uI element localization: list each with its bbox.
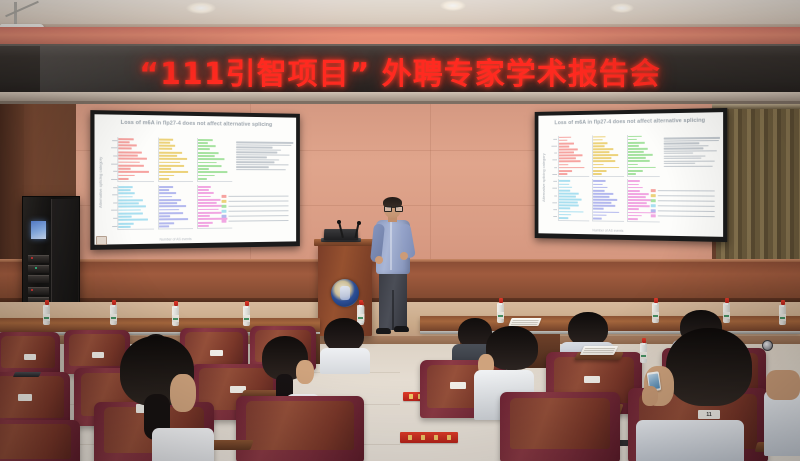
notepad	[580, 346, 618, 355]
wristwatch	[762, 340, 773, 351]
slide-x-axis-label: Number of AS events	[558, 228, 660, 234]
tablet-device[interactable]	[13, 372, 41, 377]
slide-annotation-list	[663, 137, 721, 167]
notepad	[508, 318, 541, 326]
legend-item	[650, 194, 715, 198]
presenter-hand	[400, 252, 408, 260]
chart-panel-wt-rep3	[627, 134, 660, 177]
slide-annotation-list	[236, 142, 294, 171]
seat-number-plate	[584, 376, 600, 383]
legend-item	[650, 214, 715, 218]
projector-mount-arm	[14, 2, 17, 26]
auditorium-seat[interactable]	[500, 392, 620, 461]
presentation-slide: Loss of m6A in flp27-4 does not affect a…	[538, 112, 723, 237]
presenter-leg-split	[392, 290, 394, 330]
ceiling	[0, 0, 800, 26]
microphone-head	[337, 220, 341, 224]
legend-swatch	[650, 204, 655, 207]
auditorium-seat[interactable]	[236, 396, 364, 461]
presentation-slide: Loss of m6A in flp27-4 does not affect a…	[95, 114, 297, 244]
chart-panel-wt-rep2	[158, 137, 194, 182]
legend-swatch	[222, 219, 227, 222]
rack-monitor-screen	[31, 221, 46, 239]
chart-panel-wt-rep1	[118, 137, 155, 182]
legend-item	[650, 199, 715, 203]
legend-swatch	[650, 209, 655, 212]
slide-legend	[650, 189, 715, 218]
audience-person-front-left	[104, 336, 214, 461]
legend-swatch	[222, 195, 227, 198]
presenter-shoe	[394, 326, 409, 332]
legend-item	[650, 204, 715, 208]
slide-y-tick-labels	[552, 135, 558, 220]
legend-swatch	[650, 189, 655, 192]
chart-panel-wt-rep3	[197, 138, 232, 182]
slide-y-axis-label: Alternative splicing category	[96, 143, 105, 221]
led-banner-text: “111引智项目” 外聘专家学术报告会	[0, 46, 800, 96]
legend-item	[222, 194, 288, 198]
floor-decal-sign	[400, 432, 458, 443]
water-bottle	[110, 300, 117, 325]
audience-person-right-edge	[764, 348, 800, 458]
projection-screen-right: Loss of m6A in flp27-4 does not affect a…	[535, 108, 728, 242]
water-bottle	[43, 300, 50, 325]
glasses-icon	[384, 206, 401, 210]
slide-title: Loss of m6A in flp27-4 does not affect a…	[109, 121, 282, 129]
water-bottle	[243, 301, 250, 326]
seat-number-plate	[24, 354, 36, 360]
seat-number-plate	[450, 382, 466, 389]
chart-panel-mutant-rep1	[118, 185, 155, 230]
slide-y-axis-label: Alternative splicing category	[539, 142, 547, 213]
slide-title: Loss of m6A in flp27-4 does not affect a…	[551, 119, 710, 128]
presenter-shoe	[376, 328, 391, 334]
chart-panel-wt-rep2	[592, 135, 624, 177]
chart-panel-wt-rep1	[558, 135, 589, 177]
screen-surface: Loss of m6A in flp27-4 does not affect a…	[95, 114, 297, 244]
microphone-head	[357, 221, 361, 225]
ceiling-light	[610, 3, 634, 13]
projection-screen-left: Loss of m6A in flp27-4 does not affect a…	[90, 110, 300, 250]
legend-item	[222, 199, 288, 203]
legend-item	[650, 189, 715, 193]
seat-number-plate	[92, 352, 104, 358]
presenter-shirt-placket	[390, 222, 392, 270]
audience-hand	[642, 386, 658, 406]
legend-item	[222, 214, 288, 218]
presenter-person	[372, 198, 414, 338]
banner-ledge	[0, 92, 800, 101]
legend-swatch	[650, 199, 655, 202]
ceiling-light	[440, 0, 466, 11]
screen-surface: Loss of m6A in flp27-4 does not affect a…	[538, 112, 723, 237]
slide-chart-panels	[558, 134, 660, 222]
chart-panel-mutant-rep2	[592, 179, 624, 221]
legend-item	[222, 204, 288, 208]
slide-legend	[222, 194, 288, 222]
university-seal-icon	[331, 279, 359, 307]
legend-swatch	[222, 209, 227, 212]
legend-swatch	[222, 205, 227, 208]
water-bottle	[652, 298, 659, 323]
legend-item	[222, 219, 288, 223]
legend-item	[650, 209, 715, 213]
presenter-hand	[375, 256, 383, 264]
audience-person	[318, 318, 370, 374]
water-bottle	[497, 298, 504, 323]
slide-y-tick-labels	[110, 137, 117, 231]
legend-swatch	[650, 194, 655, 197]
lecture-hall-photo: “111引智项目” 外聘专家学术报告会 Loss of m6A in flp27…	[0, 0, 800, 461]
legend-swatch	[222, 214, 227, 217]
slide-chart-panels	[118, 137, 232, 230]
ceiling-light	[186, 2, 216, 14]
legend-swatch	[222, 200, 227, 203]
auditorium-seat[interactable]	[0, 420, 80, 461]
seat-number-plate	[18, 394, 32, 401]
chart-panel-mutant-rep2	[158, 185, 194, 230]
water-bottle	[172, 301, 179, 326]
legend-item	[222, 209, 288, 213]
led-banner: “111引智项目” 外聘专家学术报告会	[0, 44, 800, 98]
wall-seam	[430, 104, 431, 262]
chart-panel-mutant-rep1	[558, 179, 589, 221]
wall-outlet	[96, 236, 107, 245]
slide-x-axis-label: Number of AS events	[118, 237, 232, 243]
legend-swatch	[650, 214, 655, 217]
water-bottle	[779, 300, 786, 325]
